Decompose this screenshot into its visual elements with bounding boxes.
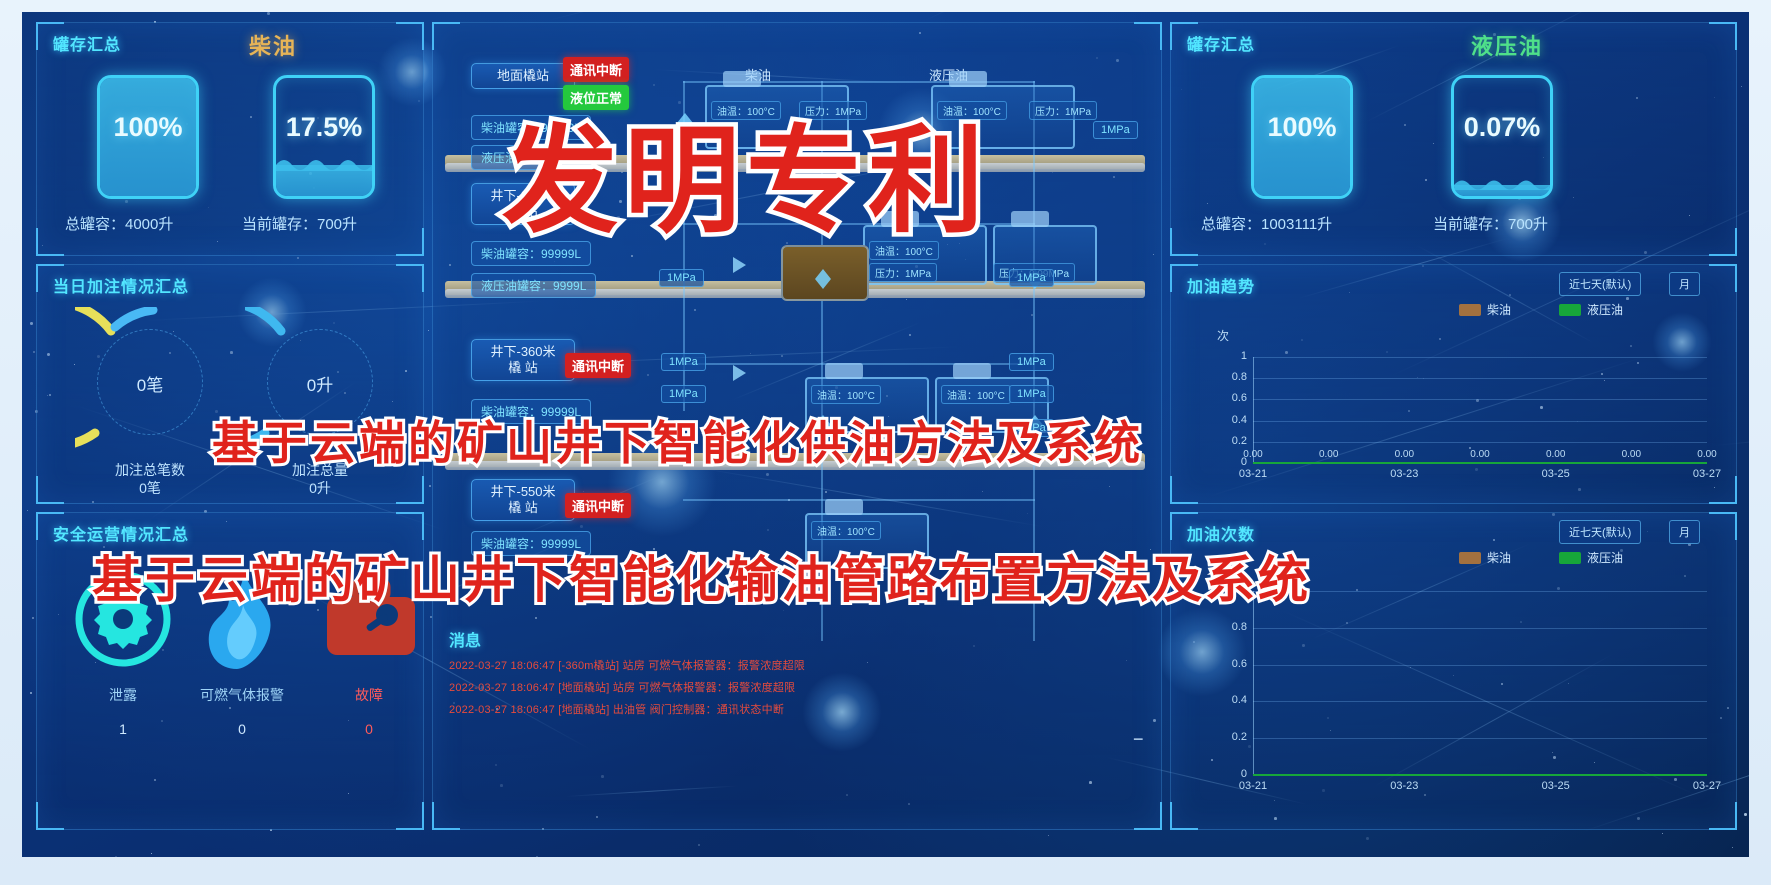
sensor-pressure-3: 压力：1MPa	[869, 263, 937, 282]
sensor-oil-temp-6: 油温：100°C	[811, 521, 881, 540]
pump-head-7	[825, 499, 863, 515]
message-row-2[interactable]: 2022-03-27 18:06:47 [地面橇站] 站房 可燃气体报警器：报警…	[449, 679, 795, 695]
diesel-current-capacity-label: 当前罐存：700升	[242, 213, 357, 234]
legend-item-hydraulic-count[interactable]: 液压油	[1559, 549, 1623, 566]
pressure-tag-5: 1MPa	[1009, 353, 1054, 371]
pump-head-6	[953, 363, 991, 379]
hydraulic-total-tank-gauge: 100%	[1251, 75, 1353, 199]
pressure-tag-7: 1MPa	[1009, 385, 1054, 403]
hydraulic-fluid-label: 液压油	[1471, 29, 1543, 61]
hydraulic-current-pct: 0.07%	[1454, 112, 1550, 143]
panel-left-tank-summary: 罐存汇总 柴油 100% 17.5% 总罐容：4000升 当前罐存：700升	[36, 22, 424, 256]
message-row-3[interactable]: 2022-03-27 18:06:47 [地面橇站] 出油管 阀门控制器：通讯状…	[449, 701, 784, 717]
right-tank-summary-title: 罐存汇总	[1187, 31, 1255, 55]
wave-icon	[1454, 176, 1550, 190]
caption-refuel-count: 加注总笔数 0笔	[70, 461, 230, 497]
station-550-badge-comm: 通讯中断	[565, 493, 631, 518]
pressure-tag-2: 1MPa	[659, 269, 704, 287]
flow-arrow-icon-2	[733, 365, 746, 381]
wave-icon	[276, 155, 372, 171]
legend-label-diesel: 柴油	[1487, 549, 1511, 566]
message-panel-title: 消息	[449, 627, 481, 651]
station-550-name[interactable]: 井下-550米 橇 站	[471, 479, 575, 521]
pressure-tag-3: 1MPa	[1009, 269, 1054, 287]
legend-item-hydraulic-trend[interactable]: 液压油	[1559, 301, 1623, 318]
station-ground-badge-comm: 通讯中断	[563, 57, 629, 82]
station-360-name[interactable]: 井下-360米 橇 站	[471, 339, 575, 381]
diesel-total-tank-gauge: 100%	[97, 75, 199, 199]
legend-label-diesel: 柴油	[1487, 301, 1511, 318]
safety-label-leak: 泄露	[63, 685, 183, 705]
hydraulic-current-capacity-label: 当前罐存：700升	[1433, 213, 1548, 234]
station-360-badge-comm: 通讯中断	[565, 353, 631, 378]
refuel-trend-range-month-button[interactable]: 月	[1669, 272, 1700, 296]
refuel-count-plot: 00.20.40.60.8103-2103-2303-2503-27	[1191, 583, 1721, 801]
pressure-tag-6: 1MPa	[661, 385, 706, 403]
safety-label-fault: 故障	[309, 685, 429, 705]
diesel-total-capacity-label: 总罐容：4000升	[65, 213, 173, 234]
pressure-tag-4: 1MPa	[661, 353, 706, 371]
legend-label-hydraulic: 液压油	[1587, 301, 1623, 318]
refuel-trend-range-week-button[interactable]: 近七天(默认)	[1559, 272, 1641, 296]
sensor-oil-temp-4: 油温：100°C	[811, 385, 881, 404]
panel-right-tank-summary: 罐存汇总 液压油 100% 0.07% 总罐容：1003111升 当前罐存：70…	[1170, 22, 1737, 256]
pump-head-1	[723, 71, 761, 87]
message-row-1[interactable]: 2022-03-27 18:06:47 [-360m橇站] 站房 可燃气体报警器…	[449, 657, 805, 673]
dashboard-board: 罐存汇总 柴油 100% 17.5% 总罐容：4000升 当前罐存：700升 当…	[22, 12, 1749, 857]
caption-refuel-volume-value: 0升	[240, 479, 400, 497]
minus-icon[interactable]: −	[1133, 729, 1144, 750]
caption-refuel-count-value: 0笔	[70, 479, 230, 497]
refuel-trend-plot: 00.20.40.60.810.000.000.000.000.000.000.…	[1191, 349, 1721, 489]
legend-item-diesel-trend[interactable]: 柴油	[1459, 301, 1511, 318]
sensor-pressure-2: 压力：1MPa	[1029, 101, 1097, 120]
pump-head-2	[949, 71, 987, 87]
hydraulic-total-capacity-label: 总罐容：1003111升	[1201, 213, 1332, 234]
watermark-line-1: 基于云端的矿山井下智能化供油方法及系统	[212, 407, 1143, 473]
diesel-current-pct: 17.5%	[276, 112, 372, 143]
legend-item-diesel-count[interactable]: 柴油	[1459, 549, 1511, 566]
safety-value-gas: 0	[182, 721, 302, 737]
gauge-refuel-count-value: 0笔	[75, 371, 225, 396]
diesel-fluid-label: 柴油	[249, 29, 297, 61]
safety-label-gas: 可燃气体报警	[182, 685, 302, 705]
safety-value-leak: 1	[63, 721, 183, 737]
station-200-hydraulic-capacity: 液压油罐容：9999L	[471, 273, 596, 298]
gauge-refuel-volume-value: 0升	[245, 371, 395, 396]
flow-arrow-icon-1	[733, 257, 746, 273]
refuel-count-range-month-button[interactable]: 月	[1669, 520, 1700, 544]
pressure-tag-1: 1MPa	[1093, 121, 1138, 139]
panel-refuel-trend: 加油趋势 近七天(默认) 月 柴油 液压油 次 00.20.40.60.810.…	[1170, 264, 1737, 504]
legend-swatch-diesel	[1459, 304, 1481, 316]
legend-swatch-diesel	[1459, 552, 1481, 564]
pump-head-4	[1011, 211, 1049, 227]
daily-refuel-title: 当日加注情况汇总	[53, 273, 189, 297]
watermark-line-2: 基于云端的矿山井下智能化输油管路布置方法及系统	[92, 540, 1311, 612]
legend-swatch-hydraulic	[1559, 304, 1581, 316]
refuel-count-range-week-button[interactable]: 近七天(默认)	[1559, 520, 1641, 544]
refuel-trend-title: 加油趋势	[1187, 273, 1255, 297]
left-tank-summary-title: 罐存汇总	[53, 31, 121, 55]
watermark-patent: 发明专利	[502, 87, 990, 255]
diesel-current-tank-gauge: 17.5%	[273, 75, 375, 199]
sensor-oil-temp-5: 油温：100°C	[941, 385, 1011, 404]
safety-value-fault: 0	[309, 721, 429, 737]
gauge-refuel-count: 0笔	[75, 307, 225, 457]
refuel-trend-ylabel: 次	[1217, 327, 1229, 344]
pump-head-5	[825, 363, 863, 379]
hydraulic-current-tank-gauge: 0.07%	[1451, 75, 1553, 199]
diesel-total-pct: 100%	[100, 112, 196, 143]
screenshot-root: 罐存汇总 柴油 100% 17.5% 总罐容：4000升 当前罐存：700升 当…	[0, 0, 1771, 885]
legend-swatch-hydraulic	[1559, 552, 1581, 564]
station-ground-name[interactable]: 地面橇站	[471, 63, 575, 89]
caption-refuel-count-label: 加注总笔数	[70, 461, 230, 479]
legend-label-hydraulic: 液压油	[1587, 549, 1623, 566]
hydraulic-total-pct: 100%	[1254, 112, 1350, 143]
